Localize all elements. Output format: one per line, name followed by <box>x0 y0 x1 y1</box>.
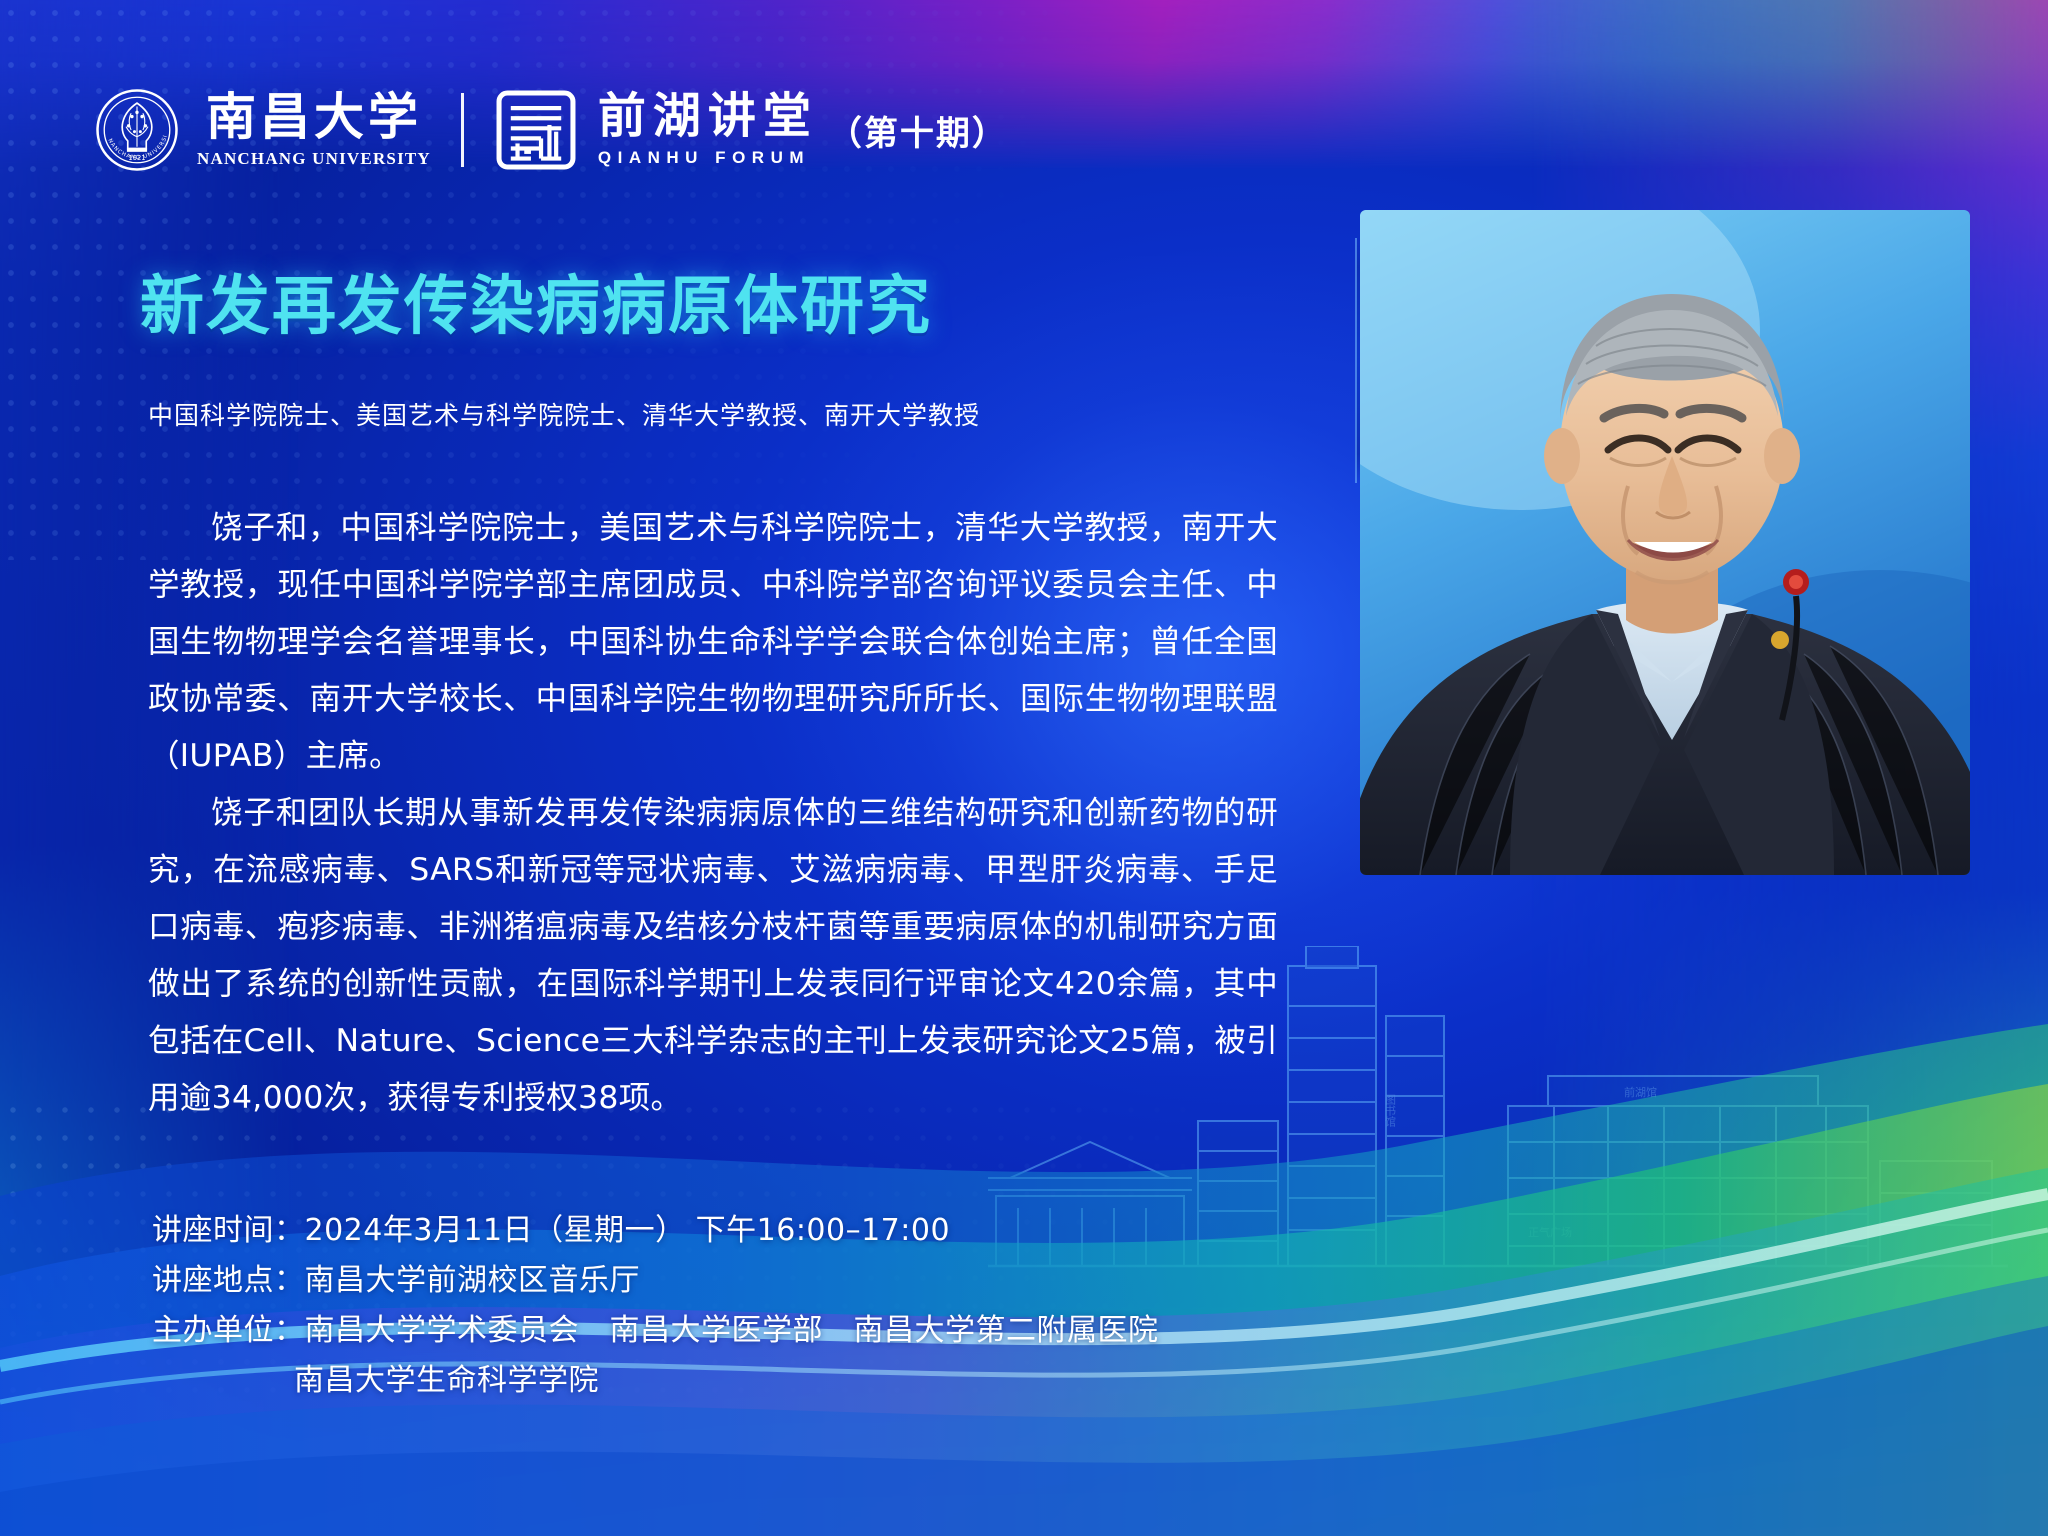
lecture-place-row: 讲座地点：南昌大学前湖校区音乐厅 <box>152 1256 1302 1306</box>
university-name-en: NANCHANG UNIVERSITY <box>197 149 431 169</box>
speaker-credentials: 中国科学院院士、美国艺术与科学院院士、清华大学教授、南开大学教授 <box>148 396 980 432</box>
biography-paragraph-1: 饶子和，中国科学院院士，美国艺术与科学院院士，清华大学教授，南开大学教授，现任中… <box>148 500 1278 785</box>
qianhu-forum-seal-icon <box>494 88 578 172</box>
speaker-biography: 饶子和，中国科学院院士，美国艺术与科学院院士，清华大学教授，南开大学教授，现任中… <box>148 500 1278 1127</box>
header-divider <box>461 93 464 167</box>
forum-name-en: QIANHU FORUM <box>598 148 818 168</box>
lecture-poster: 图书馆 前湖馆 正气广场 <box>0 0 2048 1536</box>
speaker-portrait <box>1360 210 1970 875</box>
university-name-cn: 南昌大学 <box>206 92 422 142</box>
forum-issue-number: （第十期） <box>828 106 1008 155</box>
forum-name-cn: 前湖讲堂 <box>598 92 818 140</box>
lecture-title: 新发再发传染病病原体研究 <box>140 255 932 347</box>
lecture-time-row: 讲座时间：2024年3月11日（星期一） 下午16:00–17:00 <box>152 1206 1302 1256</box>
qianhu-forum-wordmark: 前湖讲堂 QIANHU FORUM <box>598 92 818 168</box>
lecture-host-row: 主办单位：南昌大学学术委员会 南昌大学医学部 南昌大学第二附属医院 <box>152 1306 1302 1356</box>
nanchang-university-seal-icon: 1921 NANCHANG UNIVERSITY <box>95 88 179 172</box>
biography-paragraph-2: 饶子和团队长期从事新发再发传染病病原体的三维结构研究和创新药物的研究，在流感病毒… <box>148 785 1278 1127</box>
nanchang-university-wordmark: 南昌大学 NANCHANG UNIVERSITY <box>197 92 431 169</box>
lecture-host-row-2: 南昌大学生命科学学院 <box>152 1356 1302 1406</box>
lecture-details: 讲座时间：2024年3月11日（星期一） 下午16:00–17:00 讲座地点：… <box>152 1206 1302 1406</box>
poster-header: 1921 NANCHANG UNIVERSITY 南昌大学 NANCHANG U… <box>95 88 1008 172</box>
